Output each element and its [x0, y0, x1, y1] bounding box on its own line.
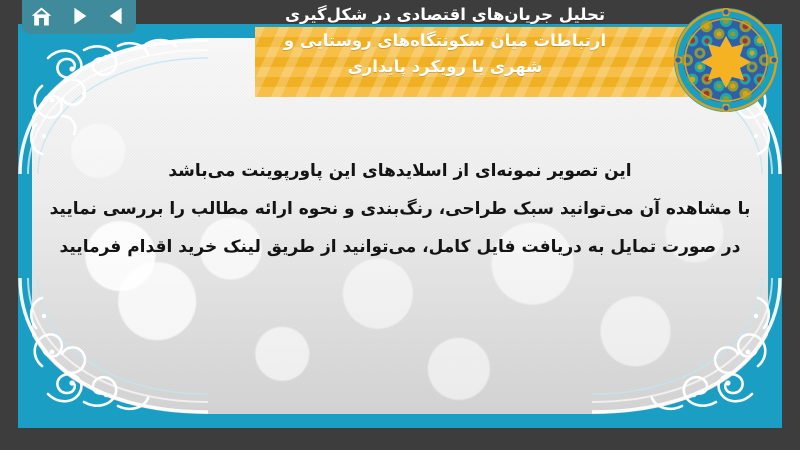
back-button[interactable]: [104, 3, 130, 29]
home-icon: [30, 5, 53, 28]
body-line-3: در صورت تمایل به دریافت فایل کامل، می‌تو…: [18, 228, 782, 266]
forward-button[interactable]: [66, 3, 92, 29]
navigation-bar: [22, 0, 136, 34]
body-line-2: با مشاهده آن می‌توانید سبک طراحی، رنگ‌بن…: [18, 190, 782, 228]
slide-body-text: این تصویر نمونه‌ای از اسلایدهای این پاور…: [18, 152, 782, 266]
slide-viewer: این تصویر نمونه‌ای از اسلایدهای این پاور…: [0, 0, 800, 450]
back-triangle-icon: [106, 5, 128, 27]
banner-body: [255, 27, 725, 97]
forward-triangle-icon: [68, 5, 90, 27]
home-button[interactable]: [28, 3, 54, 29]
persian-medallion-icon: [672, 6, 780, 114]
body-line-1: این تصویر نمونه‌ای از اسلایدهای این پاور…: [18, 152, 782, 190]
